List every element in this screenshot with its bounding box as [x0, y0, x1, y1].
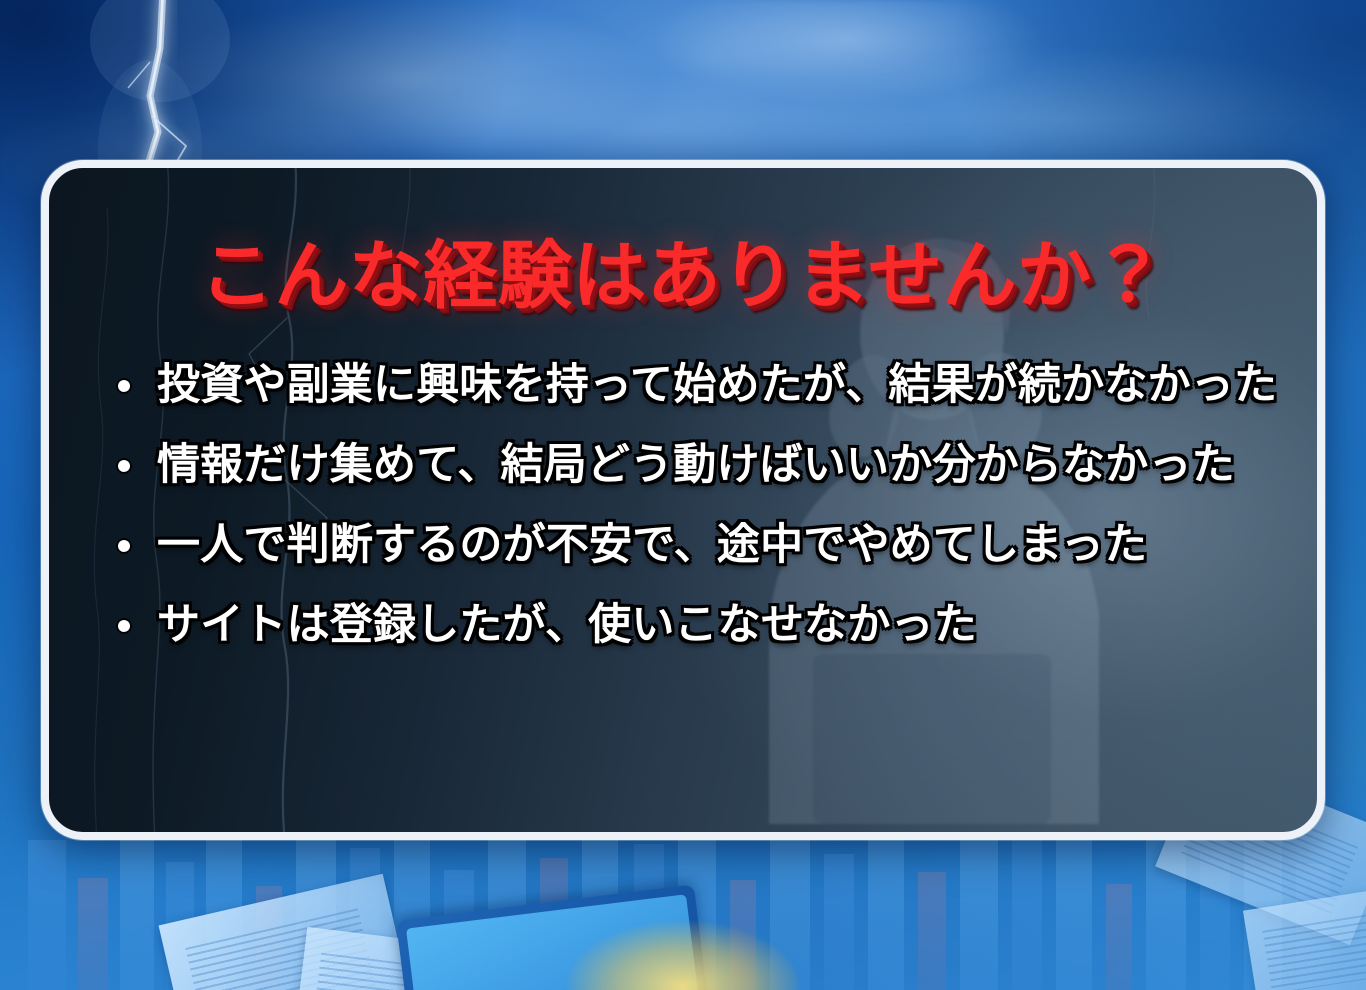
bullet-dot-icon	[118, 620, 130, 632]
bullet-dot-icon	[118, 540, 130, 552]
list-item: サイトは登録したが、使いこなせなかった	[115, 601, 1277, 651]
list-item-label: 一人で判断するのが不安で、途中でやめてしまった	[157, 521, 1147, 569]
list-item-label: 情報だけ集めて、結局どう動けばいいか分からなかった	[157, 441, 1235, 489]
message-card: こんな経験はありませんか？ 投資や副業に興味を持って始めたが、結果が続かなかった…	[41, 160, 1325, 840]
bullet-dot-icon	[118, 460, 130, 472]
list-item: 一人で判断するのが不安で、途中でやめてしまった	[115, 521, 1277, 571]
bullet-dot-icon	[118, 380, 130, 392]
pain-point-list: 投資や副業に興味を持って始めたが、結果が続かなかった 情報だけ集めて、結局どう動…	[49, 361, 1317, 651]
list-item-label: サイトは登録したが、使いこなせなかった	[157, 601, 977, 649]
page-title: こんな経験はありませんか？	[49, 238, 1317, 315]
slide-canvas: こんな経験はありませんか？ 投資や副業に興味を持って始めたが、結果が続かなかった…	[0, 0, 1366, 990]
list-item: 投資や副業に興味を持って始めたが、結果が続かなかった	[115, 361, 1277, 411]
list-item-label: 投資や副業に興味を持って始めたが、結果が続かなかった	[157, 361, 1277, 409]
list-item: 情報だけ集めて、結局どう動けばいいか分からなかった	[115, 441, 1277, 491]
